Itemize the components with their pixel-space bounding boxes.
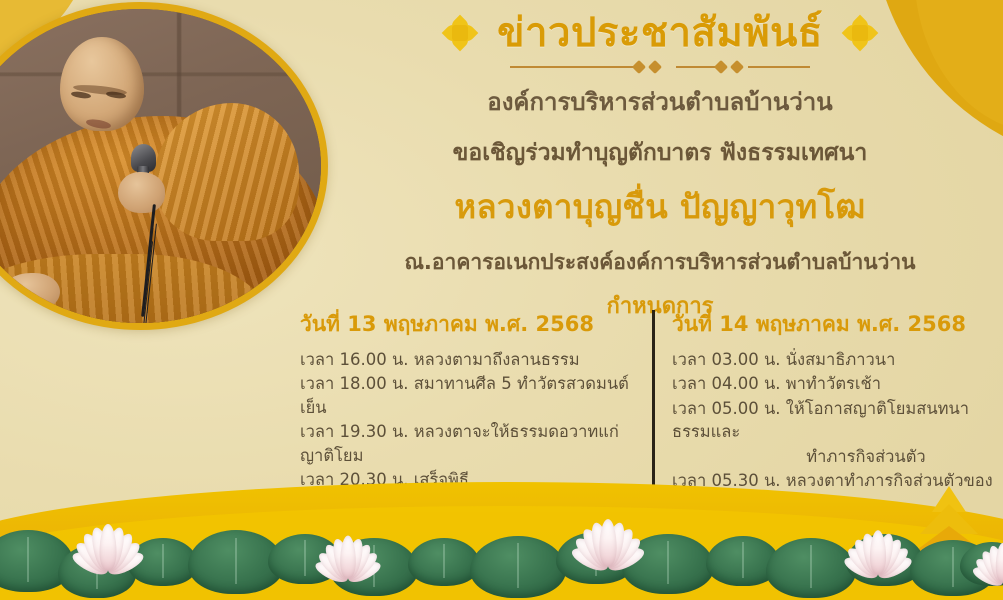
poster-canvas: ข่าวประชาสัมพันธ์ องค์การบริหารส่วนตำบลบ… [0, 0, 1003, 600]
schedule-item: เวลา 05.00 น. ให้โอกาสญาติโยมสนทนาธรรมแล… [672, 397, 1000, 444]
head-shape [60, 37, 143, 131]
quatrefoil-icon-right [845, 18, 875, 48]
schedule-item: เวลา 19.30 น. หลวงตาจะให้ธรรมดอวาทแก่ญาต… [300, 420, 634, 467]
lotus-flower [60, 492, 156, 570]
lotus-leaf [408, 538, 480, 586]
venue-text: ณ.อาคารอเนกประสงค์องค์การบริหารส่วนตำบลบ… [330, 246, 990, 279]
lotus-leaf [470, 536, 566, 598]
lotus-flower [559, 486, 657, 566]
title-row: ข่าวประชาสัมพันธ์ [330, 10, 990, 56]
lotus-flower [304, 506, 392, 578]
lotus-flower [962, 516, 1003, 582]
day2-heading: วันที่ 14 พฤษภาคม พ.ศ. 2568 [672, 308, 1000, 341]
organization-name: องค์การบริหารส่วนตำบลบ้านว่าน [330, 82, 990, 121]
hand-shape [118, 172, 165, 213]
poster-header: ข่าวประชาสัมพันธ์ องค์การบริหารส่วนตำบลบ… [330, 10, 990, 323]
schedule-item: เวลา 03.00 น. นั่งสมาธิภาวนา [672, 348, 1000, 371]
monk-name: หลวงตาบุญชื่น ปัญญาวุทโฒ [330, 180, 990, 233]
lotus-border [0, 480, 1003, 600]
lotus-flower [832, 500, 923, 574]
page-title: ข่าวประชาสัมพันธ์ [497, 10, 823, 56]
schedule-item: เวลา 16.00 น. หลวงตามาถึงลานธรรม [300, 348, 634, 371]
column-divider [652, 310, 655, 508]
hand-resting-shape [2, 273, 60, 311]
schedule-item-continuation: ทำภารกิจส่วนตัว [672, 445, 1000, 468]
schedule-item: เวลา 04.00 น. พาทำวัตรเช้า [672, 372, 1000, 395]
monk-portrait [0, 2, 328, 330]
day1-heading: วันที่ 13 พฤษภาคม พ.ศ. 2568 [300, 308, 634, 341]
schedule-item: เวลา 18.00 น. สมาทานศีล 5 ทำวัตรสวดมนต์เ… [300, 372, 634, 419]
portrait-image [0, 9, 321, 323]
ornamental-divider [510, 60, 810, 74]
invitation-text: ขอเชิญร่วมทำบุญตักบาตร ฟังธรรมเทศนา [330, 135, 990, 171]
quatrefoil-icon-left [445, 18, 475, 48]
